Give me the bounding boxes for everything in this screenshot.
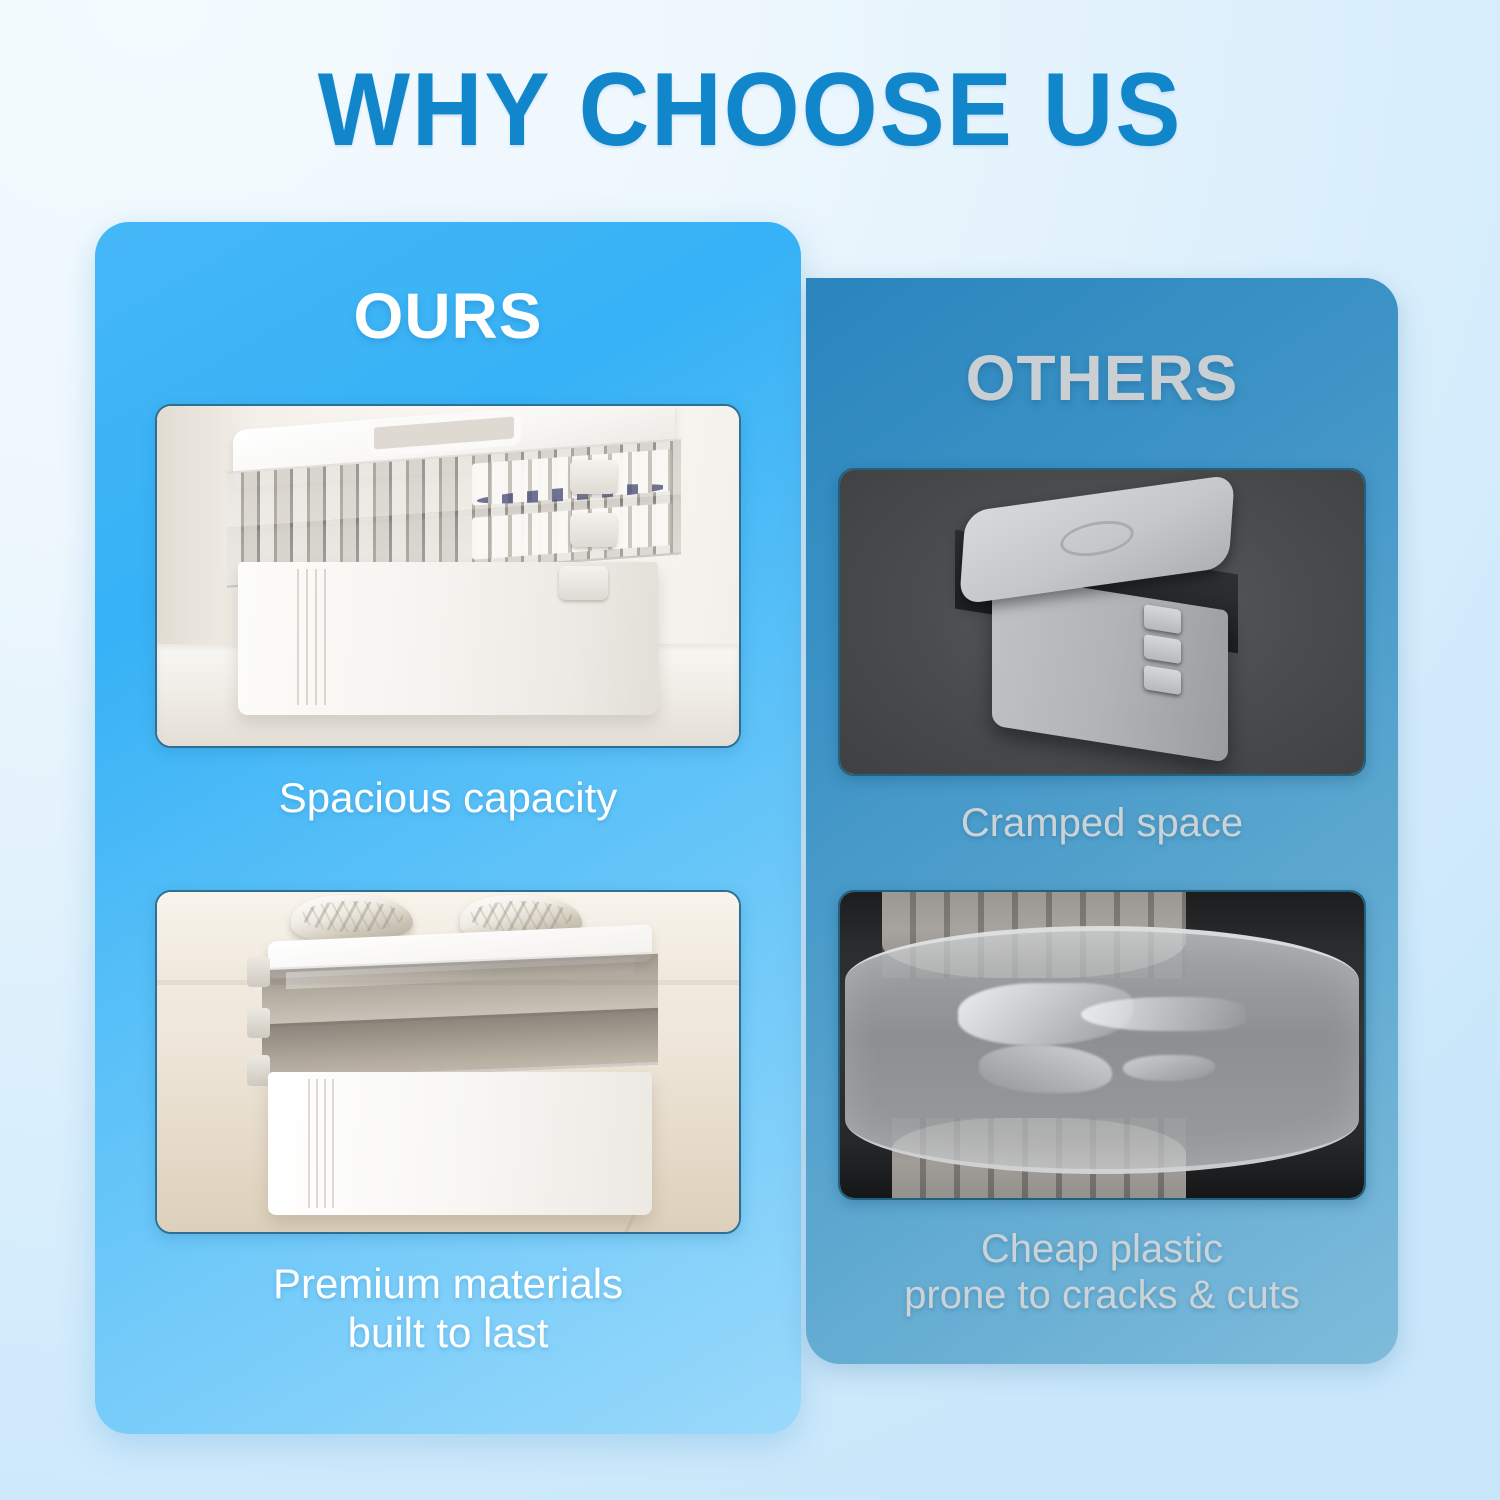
small-grey-plastic-box-photo (838, 468, 1366, 776)
hands-bending-thin-plastic-sheet-photo (838, 890, 1366, 1200)
ours-card-2-caption: Premium materials built to last (155, 1260, 741, 1357)
ours-card-1-caption: Spacious capacity (155, 774, 741, 823)
others-card-cramped-space: Cramped space (838, 468, 1366, 776)
others-card-2-caption: Cheap plastic prone to cracks & cuts (838, 1226, 1366, 1319)
white-storage-box-with-medicine-drawers-photo (155, 404, 741, 748)
ours-card-spacious-capacity: Spacious capacity (155, 404, 741, 748)
others-card-1-caption: Cramped space (838, 800, 1366, 846)
sneakers-standing-on-storage-box-photo (155, 890, 741, 1234)
others-heading: OTHERS (806, 346, 1398, 410)
ours-panel: OURS Spacious capacity (95, 222, 801, 1434)
others-panel: OTHERS Cramped space (806, 278, 1398, 1364)
others-card-cheap-plastic: Cheap plastic prone to cracks & cuts (838, 890, 1366, 1200)
ours-heading: OURS (95, 284, 801, 348)
page-title: WHY CHOOSE US (45, 58, 1455, 162)
ours-card-premium-materials: Premium materials built to last (155, 890, 741, 1234)
why-choose-us-poster: WHY CHOOSE US OURS Spacious capacity (0, 0, 1500, 1500)
